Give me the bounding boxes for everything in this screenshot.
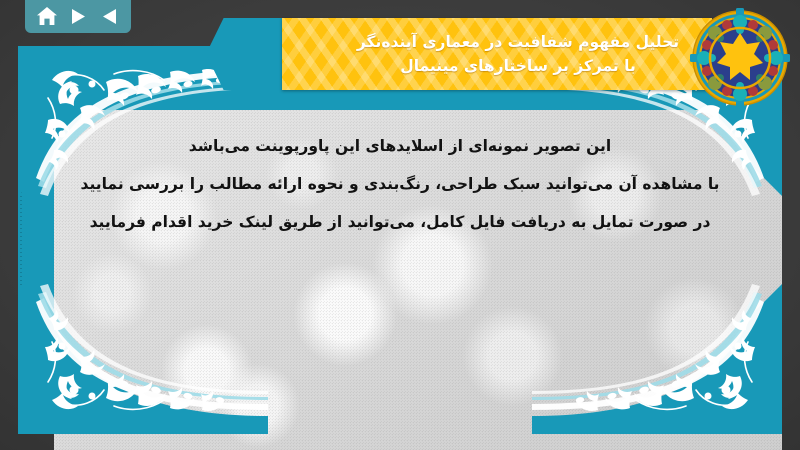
slide-viewer: این تصویر نمونه‌ای از اسلایدهای این پاور… [0,0,800,450]
triangle-right-icon [71,8,86,25]
body-line-3: در صورت تمایل به دریافت فایل کامل، می‌تو… [36,204,764,242]
next-slide-button[interactable] [65,5,91,29]
slide-navigation-bar[interactable] [25,0,131,33]
slide-title-line-2: با تمرکز بر ساختارهای مینیمال [400,55,636,77]
slide-title: تحلیل مفهوم شفافیت در معماری آینده‌نگر ب… [282,18,712,90]
home-icon [37,7,57,26]
slide-title-line-1: تحلیل مفهوم شفافیت در معماری آینده‌نگر [357,31,679,53]
body-line-2: با مشاهده آن می‌توانید سبک طراحی، رنگ‌بن… [36,166,764,204]
body-line-1: این تصویر نمونه‌ای از اسلایدهای این پاور… [36,128,764,166]
slide-body-text: این تصویر نمونه‌ای از اسلایدهای این پاور… [36,128,764,242]
home-button[interactable] [34,5,60,29]
triangle-left-icon [102,8,117,25]
previous-slide-button[interactable] [96,5,122,29]
slide-title-banner: تحلیل مفهوم شفافیت در معماری آینده‌نگر ب… [282,18,712,90]
